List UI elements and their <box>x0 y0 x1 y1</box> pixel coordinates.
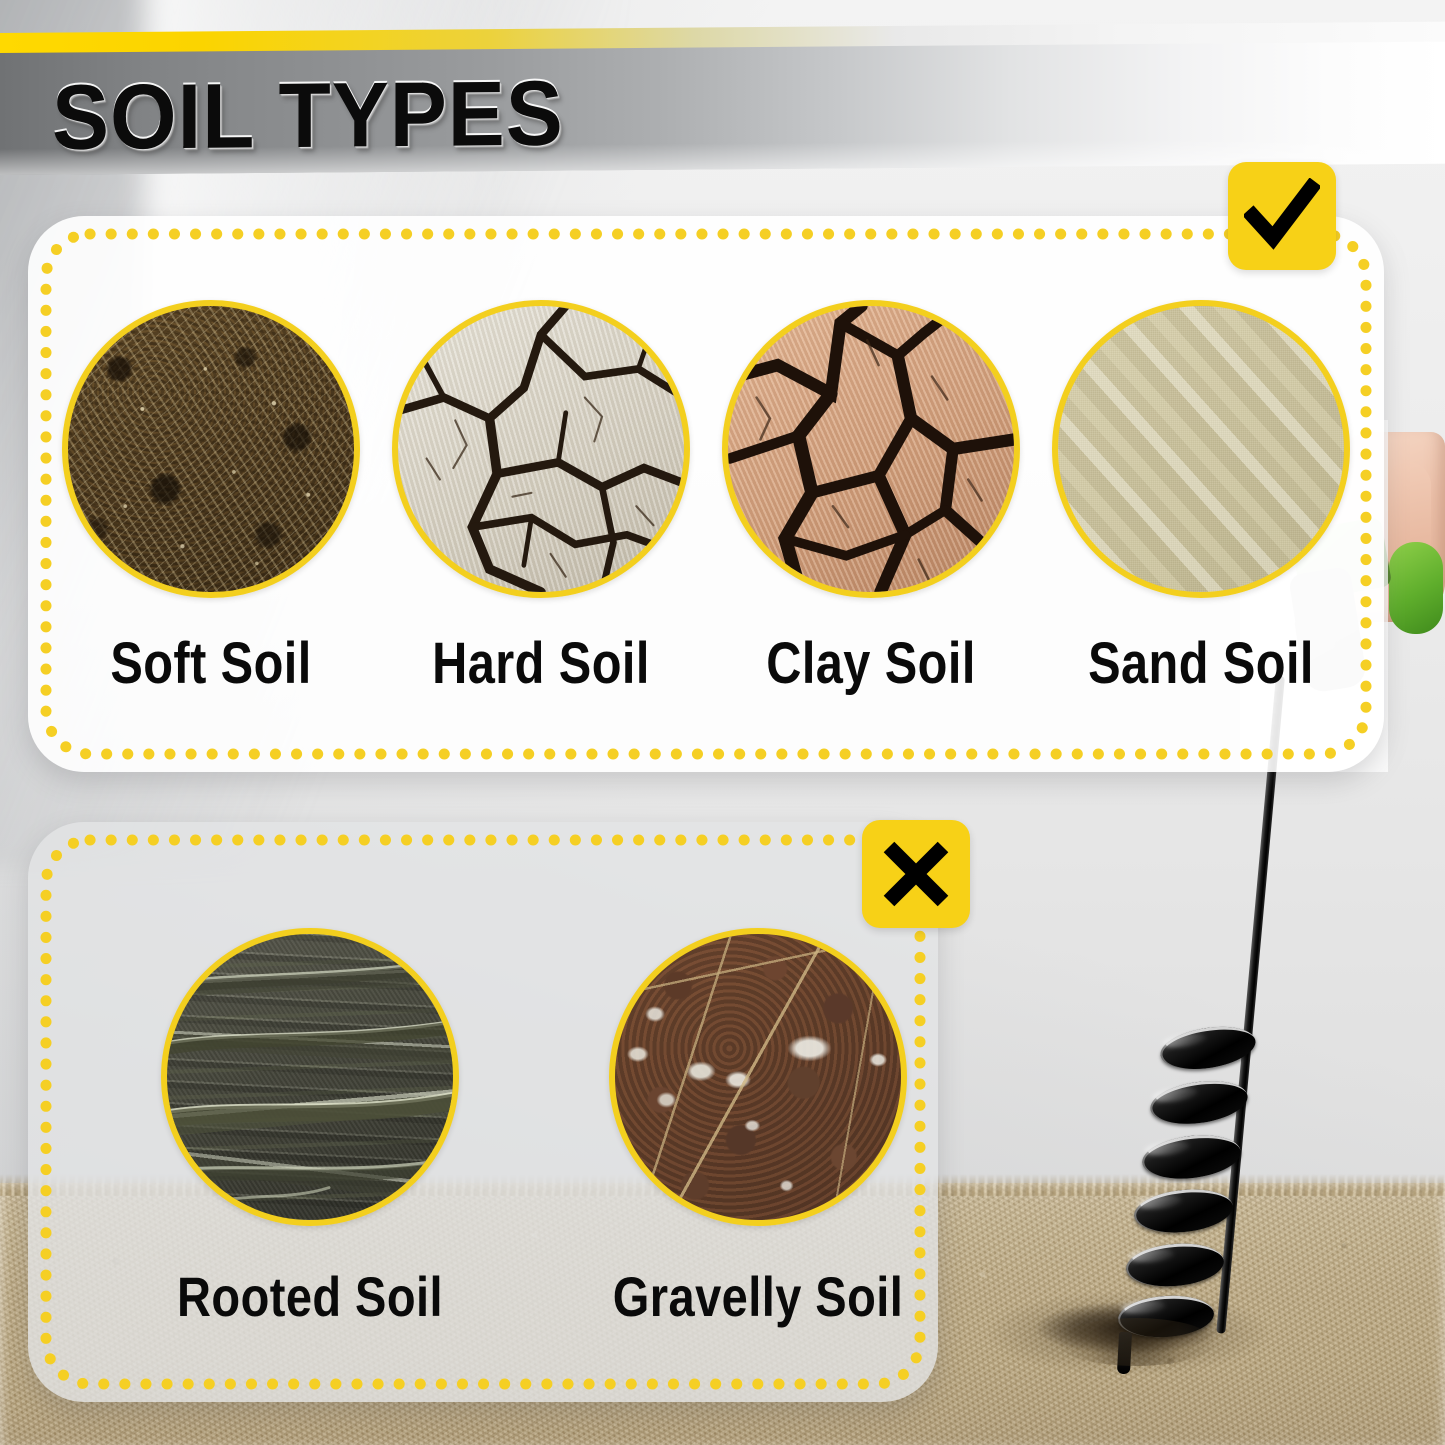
page-title: SOIL TYPES <box>52 62 564 171</box>
list-item[interactable]: Rooted Soil <box>86 928 534 1226</box>
root-strands <box>167 934 453 1220</box>
soil-image-soft <box>62 300 360 598</box>
soil-fleck-overlay <box>68 306 354 592</box>
header: SOIL TYPES <box>0 0 1445 186</box>
soil-label: Sand Soil <box>1088 630 1314 697</box>
soil-label: Hard Soil <box>432 630 650 697</box>
crack-pattern <box>398 306 684 592</box>
soil-image-gravelly <box>609 928 907 1226</box>
soil-image-hard <box>392 300 690 598</box>
cross-icon <box>881 839 951 909</box>
list-item[interactable]: Sand Soil <box>1036 300 1366 598</box>
soil-image-sand <box>1052 300 1350 598</box>
soil-list-suitable: Soft Soil <box>46 300 1366 598</box>
drill-grip-icon <box>1389 542 1443 634</box>
list-item[interactable]: Gravelly Soil <box>534 928 982 1226</box>
list-item[interactable]: Soft Soil <box>46 300 376 598</box>
status-badge-unsuitable <box>862 820 970 928</box>
list-item[interactable]: Hard Soil <box>376 300 706 598</box>
soil-label: Gravelly Soil <box>613 1264 903 1329</box>
list-item[interactable]: Clay Soil <box>706 300 1036 598</box>
soil-label: Clay Soil <box>766 630 976 697</box>
soil-label: Soft Soil <box>110 630 311 697</box>
soil-image-clay <box>722 300 1020 598</box>
soil-image-rooted <box>161 928 459 1226</box>
soil-list-unsuitable: Rooted Soil Gravelly Soil <box>86 928 982 1226</box>
crack-pattern <box>728 306 1014 592</box>
straw-overlay <box>615 934 901 1220</box>
infographic-canvas: SOIL TYPES Soft Soil <box>0 0 1445 1445</box>
check-icon <box>1244 178 1320 254</box>
soil-label: Rooted Soil <box>177 1264 443 1329</box>
status-badge-suitable <box>1228 162 1336 270</box>
